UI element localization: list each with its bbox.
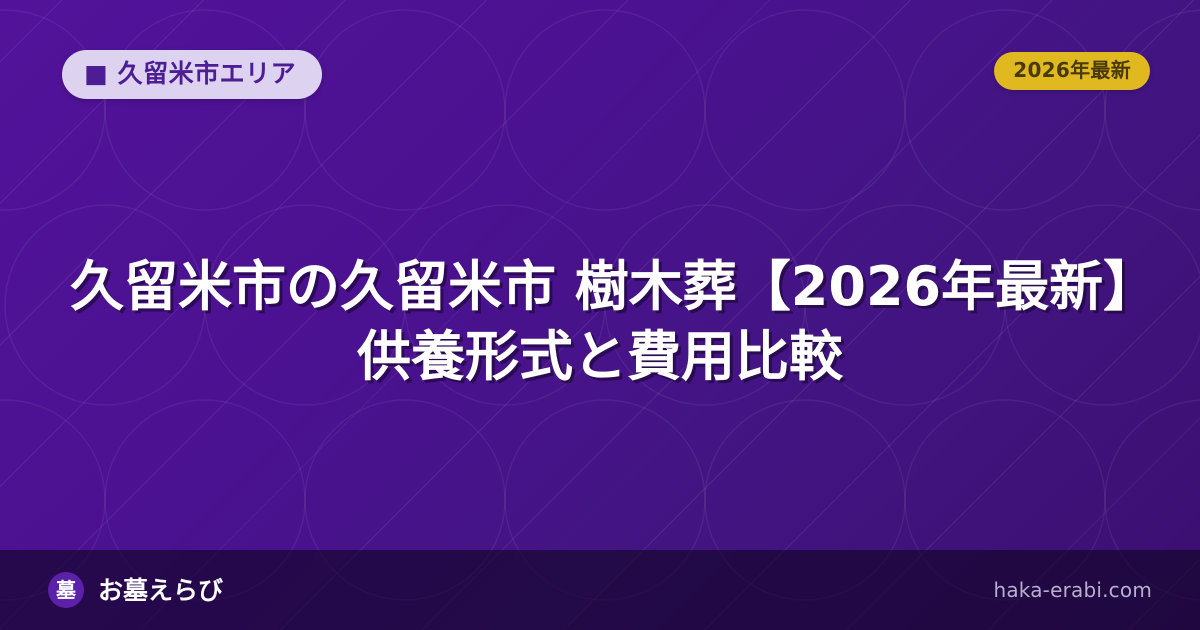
area-badge-label: 久留米市エリア bbox=[118, 61, 297, 86]
missing-glyph-tofu-icon: ■ bbox=[84, 61, 108, 86]
headline-line-1: 久留米市の久留米市 樹木葬【2026年最新】 bbox=[70, 252, 1130, 322]
headline: 久留米市の久留米市 樹木葬【2026年最新】 供養形式と費用比較 bbox=[0, 252, 1200, 392]
headline-line-2: 供養形式と費用比較 bbox=[70, 322, 1130, 392]
og-image-card: ■ 久留米市エリア 2026年最新 久留米市の久留米市 樹木葬【2026年最新】… bbox=[0, 0, 1200, 630]
site-url: haka-erabi.com bbox=[993, 580, 1152, 600]
area-badge: ■ 久留米市エリア bbox=[62, 50, 322, 99]
footer: 墓 お墓えらび haka-erabi.com bbox=[0, 550, 1200, 630]
brand-name: お墓えらび bbox=[98, 578, 223, 603]
brand-logo: 墓 お墓えらび bbox=[48, 572, 223, 608]
grave-kanji-icon: 墓 bbox=[48, 572, 84, 608]
year-badge: 2026年最新 bbox=[994, 52, 1150, 90]
